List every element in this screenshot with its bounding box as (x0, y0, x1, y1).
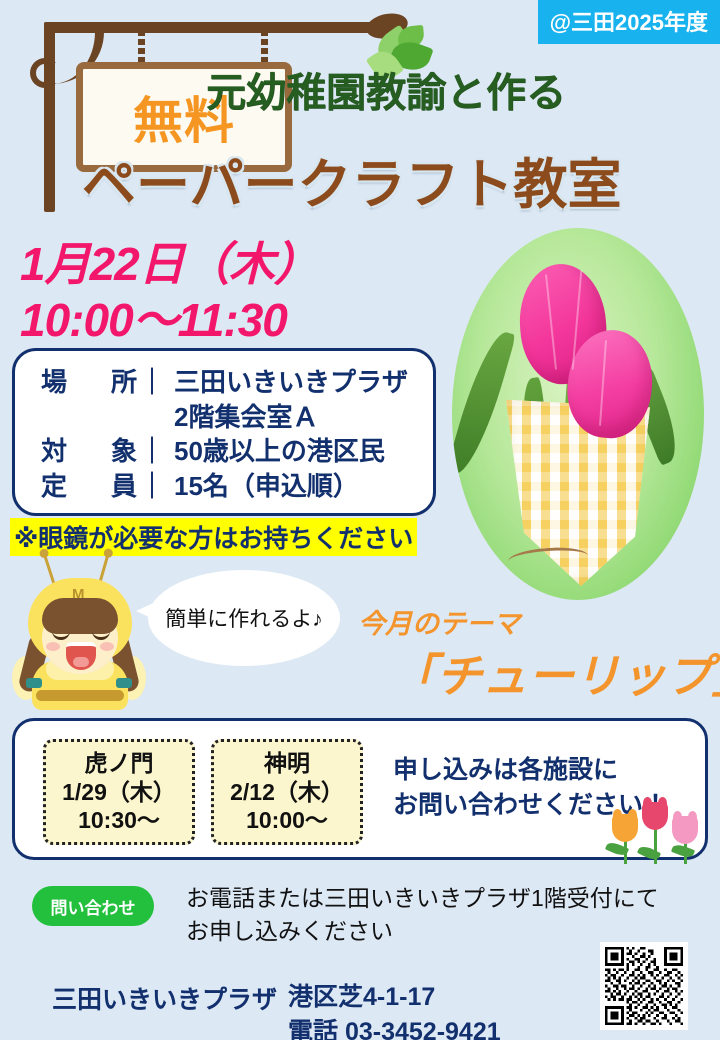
tulip-photo (452, 228, 704, 600)
venue-name-shinmei: 神明 (264, 749, 310, 778)
info-row-venue: 場 所 ｜ 三田いきいきプラザ 2階集会室Ａ (41, 365, 408, 434)
inquiry-text: お電話または三田いきいきプラザ1階受付にて お申し込みください (186, 882, 659, 949)
bee-girl-mascot-icon: M (6, 556, 152, 708)
inquiry-text-line2: お申し込みください (186, 915, 659, 948)
venues-note-line1: 申し込みは各施設に (393, 753, 668, 788)
organization-address: 港区芝4-1-17 (288, 980, 501, 1015)
bow-left-icon (26, 678, 42, 688)
venue-time-shinmei: 10:00〜 (246, 806, 328, 835)
cheek-left (46, 642, 60, 651)
info-label-venue-char2: 所 (111, 365, 137, 400)
info-divider-capacity: ｜ (139, 469, 165, 504)
inquiry-pill[interactable]: 問い合わせ (32, 886, 154, 926)
event-time: 10:00〜11:30 (20, 284, 287, 350)
info-label-capacity: 定 員 (41, 469, 137, 504)
info-row-capacity: 定 員 ｜ 15名（申込順） (41, 469, 408, 504)
headline-title: ペーパークラフト教室 (82, 140, 621, 219)
venue-date-toranomon: 1/29（木） (62, 778, 176, 807)
qr-code[interactable] (600, 942, 688, 1030)
organization-name: 三田いきいきプラザ (52, 980, 277, 1016)
info-label-capacity-char1: 定 (41, 469, 67, 504)
cheek-right (100, 642, 114, 651)
info-label-target-char1: 対 (41, 434, 67, 469)
info-label-target-char2: 象 (111, 434, 137, 469)
qr-code-image (605, 947, 683, 1025)
info-divider-target: ｜ (139, 434, 165, 469)
tulip-leaf-3 (671, 842, 695, 860)
info-value-venue-line1: 三田いきいきプラザ (174, 365, 408, 400)
tulip-head-orange (612, 814, 638, 842)
headline-subtitle: 元幼稚園教諭と作る (206, 60, 566, 118)
venue-card-shinmei: 神明 2/12（木） 10:00〜 (211, 739, 363, 845)
info-label-venue: 場 所 (41, 365, 137, 400)
inquiry-pill-label: 問い合わせ (51, 894, 136, 919)
inquiry-text-line1: お電話または三田いきいきプラザ1階受付にて (186, 882, 659, 915)
year-badge: @三田2025年度 (538, 0, 720, 44)
info-divider-venue: ｜ (139, 365, 165, 400)
event-info-rows: 場 所 ｜ 三田いきいきプラザ 2階集会室Ａ 対 象 ｜ 50歳以上の港区民 (41, 365, 408, 503)
info-value-venue-line2: 2階集会室Ａ (174, 400, 408, 435)
info-value-capacity-line1: 15名（申込順） (174, 469, 359, 504)
tulip-leaf-2 (637, 844, 661, 863)
info-value-target: 50歳以上の港区民 (174, 434, 385, 469)
info-row-target: 対 象 ｜ 50歳以上の港区民 (41, 434, 408, 469)
event-info-box: 場 所 ｜ 三田いきいきプラザ 2階集会室Ａ 対 象 ｜ 50歳以上の港区民 (12, 348, 436, 516)
venue-time-toranomon: 10:30〜 (78, 806, 160, 835)
tulip-head-pink (672, 816, 698, 844)
info-value-target-line1: 50歳以上の港区民 (174, 434, 385, 469)
venue-card-toranomon: 虎ノ門 1/29（木） 10:30〜 (43, 739, 195, 845)
info-label-target: 対 象 (41, 434, 137, 469)
tulip-head-red (642, 802, 668, 830)
organization-contact: 港区芝4-1-17 電話 03-3452-9421 (288, 980, 501, 1040)
theme-subtitle: 今月のテーマ (358, 602, 520, 641)
other-venues-box: 虎ノ門 1/29（木） 10:30〜 神明 2/12（木） 10:00〜 申し込… (12, 718, 708, 860)
info-value-capacity: 15名（申込順） (174, 469, 359, 504)
info-label-capacity-char2: 員 (111, 469, 137, 504)
chain-left-icon (138, 30, 145, 66)
info-label-venue-char1: 場 (41, 365, 67, 400)
speech-bubble-text: 簡単に作れるよ♪ (165, 603, 323, 633)
info-value-venue: 三田いきいきプラザ 2階集会室Ａ (174, 365, 408, 434)
bow-right-icon (116, 678, 132, 688)
flyer-page: @三田2025年度 無料 元幼稚園教諭と作る ペーパークラフト教室 1月22日（… (0, 0, 720, 1040)
mascot-stripe (36, 690, 124, 701)
theme-title: 「チューリップ」 (390, 640, 720, 706)
venue-date-shinmei: 2/12（木） (230, 778, 344, 807)
organization-phone: 電話 03-3452-9421 (288, 1015, 501, 1040)
venue-name-toranomon: 虎ノ門 (85, 749, 154, 778)
speech-bubble: 簡単に作れるよ♪ (148, 570, 340, 666)
tulip-trio-icon (610, 800, 706, 866)
glasses-note: ※眼鏡が必要な方はお持ちください (10, 518, 417, 556)
